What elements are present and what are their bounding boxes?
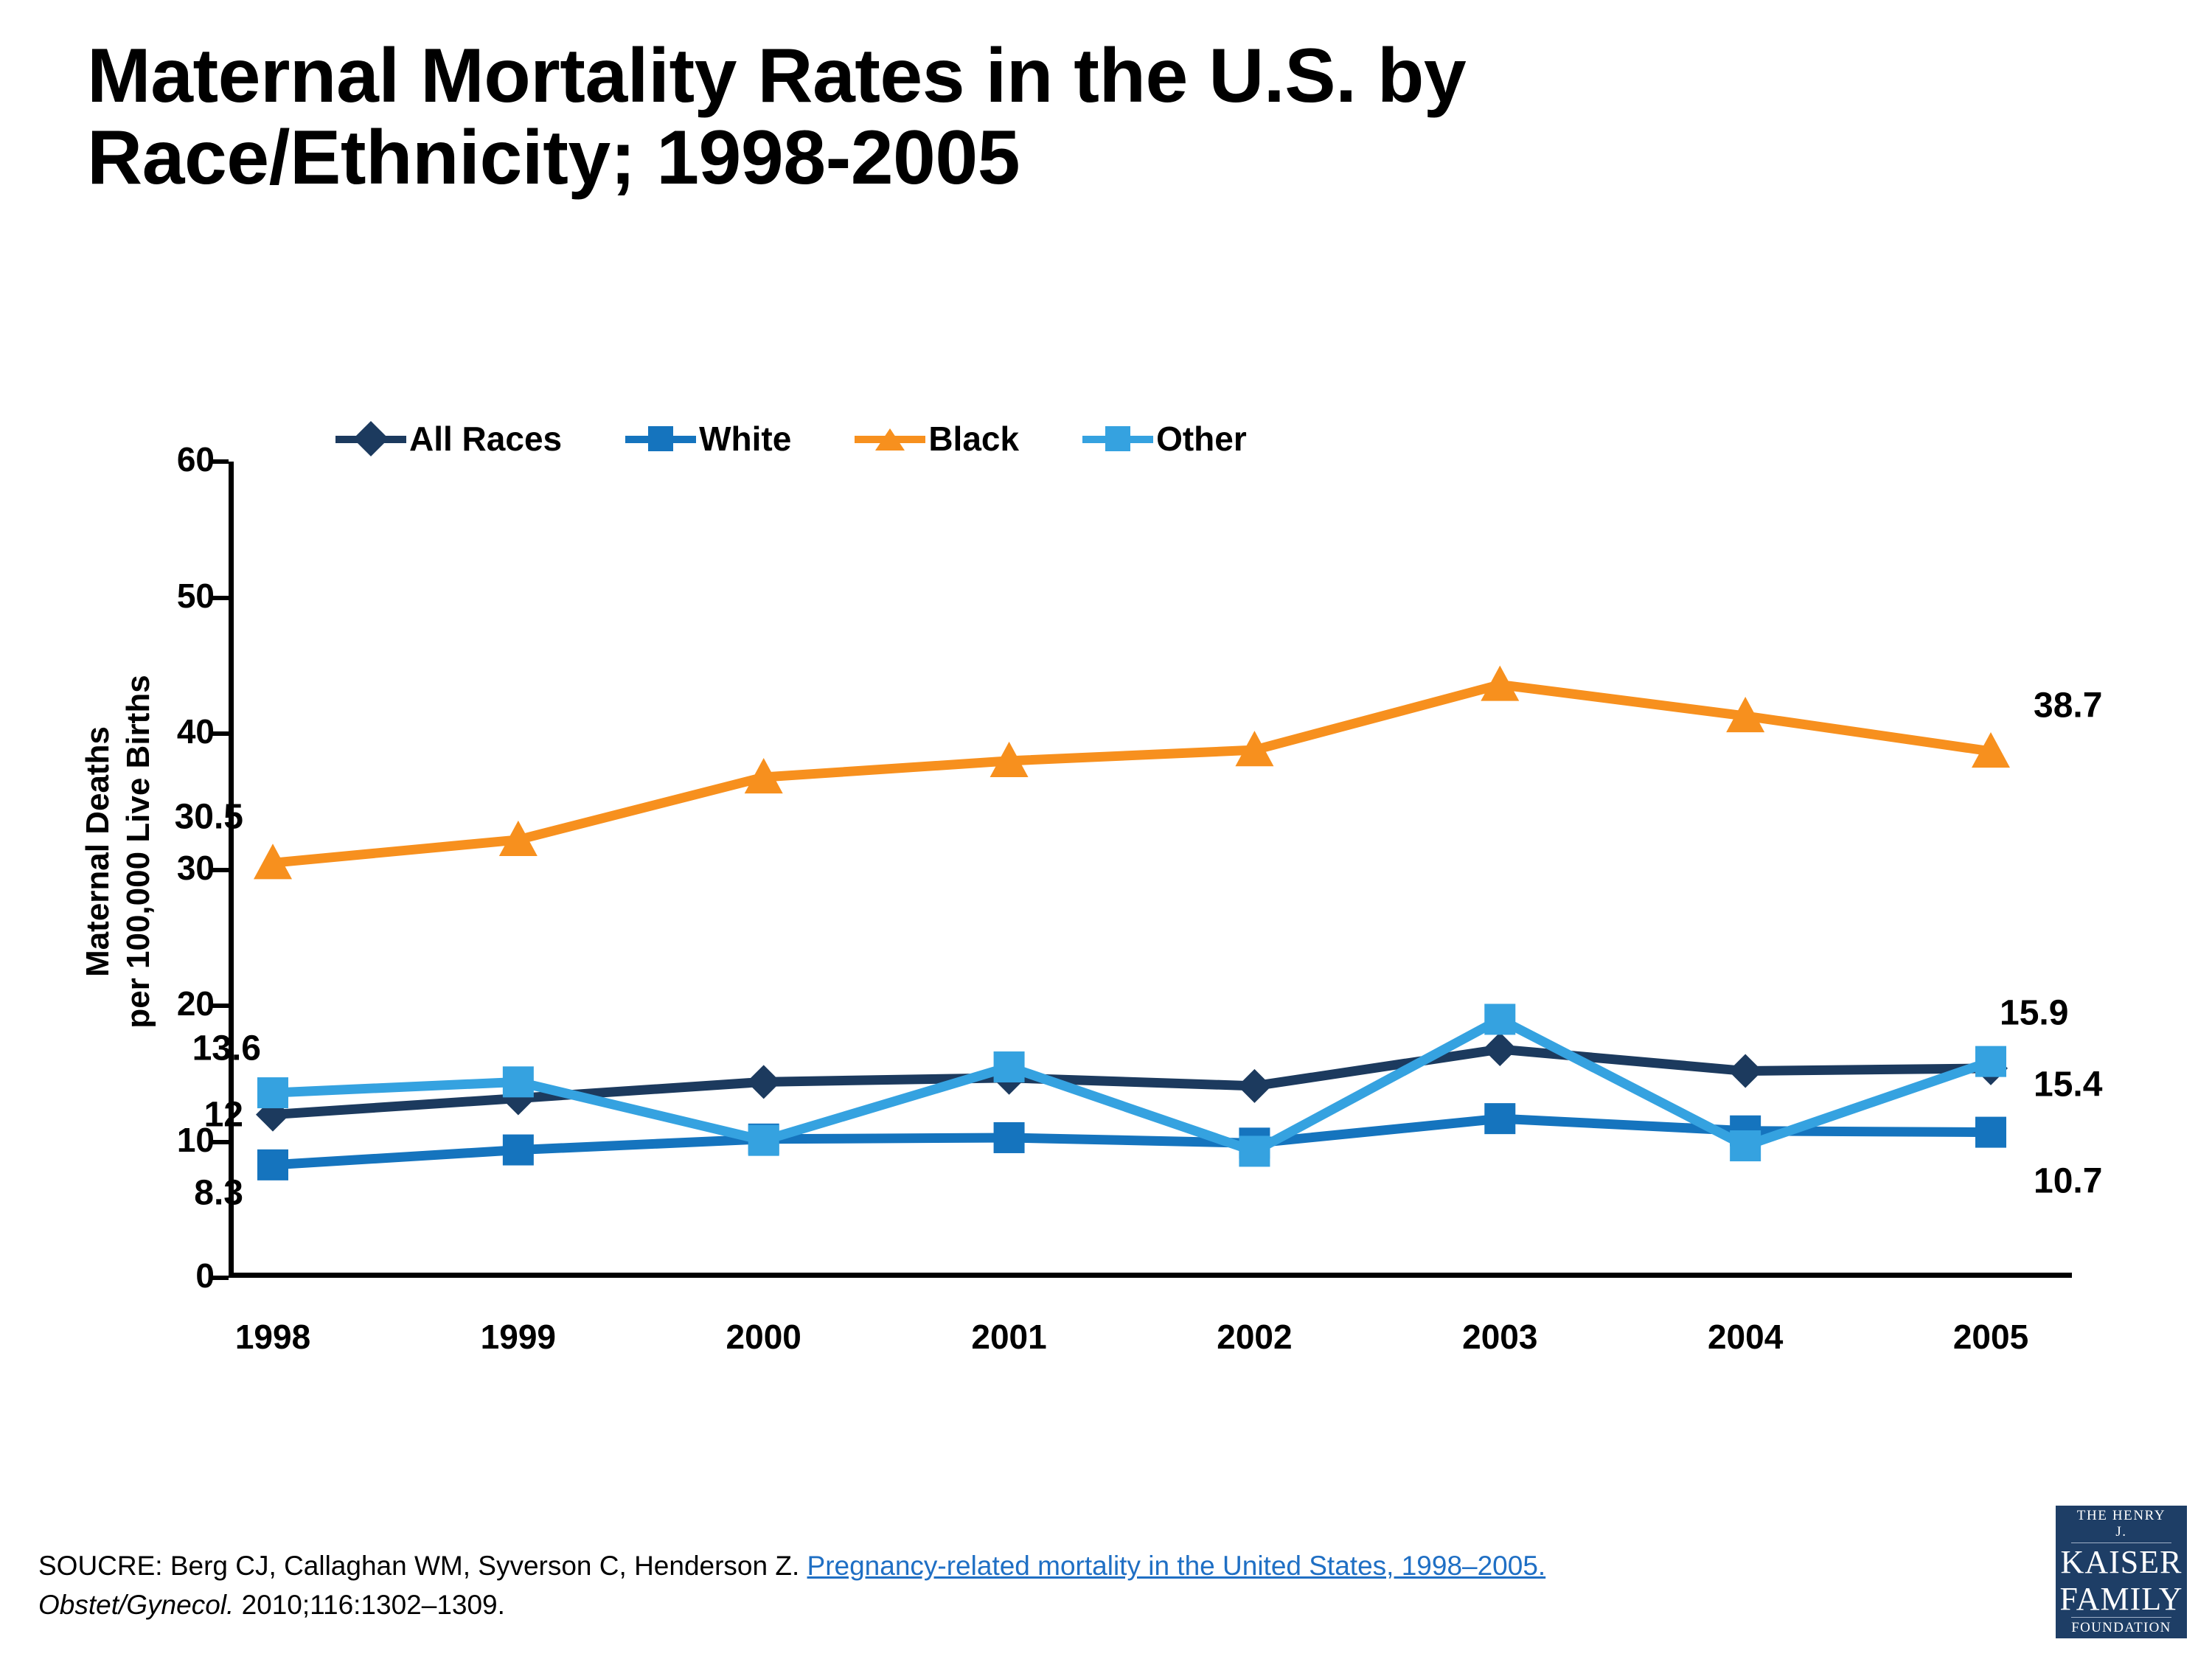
data-point-marker	[994, 1051, 1025, 1082]
legend-label-other: Other	[1156, 419, 1247, 459]
y-tick-label-50: 50	[82, 576, 215, 616]
data-point-marker	[1239, 1135, 1270, 1166]
line-chart: All Races White Black Other Maternal De	[0, 398, 2212, 1371]
legend-item-all-races[interactable]: All Races	[335, 419, 562, 459]
data-point-marker	[748, 1125, 779, 1156]
source-spacer	[1545, 1551, 1553, 1581]
data-point-marker	[503, 1066, 534, 1097]
chart-legend: All Races White Black Other	[335, 413, 1247, 465]
x-tick-label-1999: 1999	[430, 1317, 607, 1357]
legend-label-white: White	[699, 419, 791, 459]
source-prefix: SOUCRE: Berg CJ, Callaghan WM, Syverson …	[38, 1551, 807, 1581]
plot-region: 6050403020100 19981999200020012002200320…	[229, 462, 2072, 1278]
y-tick-label-20: 20	[82, 984, 215, 1023]
legend-item-black[interactable]: Black	[855, 419, 1019, 459]
y-tick-label-30: 30	[82, 848, 215, 888]
series-black	[254, 666, 2010, 880]
legend-marker-square-light-icon	[1082, 426, 1153, 451]
logo-line-foundation: FOUNDATION	[2071, 1617, 2171, 1636]
y-tick-label-40: 40	[82, 712, 215, 751]
x-tick-label-2004: 2004	[1657, 1317, 1834, 1357]
legend-item-white[interactable]: White	[625, 419, 791, 459]
data-point-marker	[1484, 1103, 1515, 1134]
legend-marker-diamond-icon	[335, 426, 406, 451]
x-tick-label-2000: 2000	[675, 1317, 852, 1357]
data-point-marker	[1237, 1069, 1271, 1103]
series-plot	[229, 462, 2072, 1278]
page-title: Maternal Mortality Rates in the U.S. by …	[87, 35, 1857, 200]
data-point-marker	[1975, 1117, 2006, 1148]
data-point-marker	[1484, 1004, 1515, 1034]
source-link[interactable]: Pregnancy-related mortality in the Unite…	[807, 1551, 1546, 1581]
x-tick-label-1998: 1998	[184, 1317, 361, 1357]
data-point-marker	[503, 1135, 534, 1166]
series-line	[273, 685, 1991, 863]
legend-marker-square-icon	[625, 426, 696, 451]
logo-line-kaiser: KAISER	[2061, 1543, 2183, 1580]
legend-marker-triangle-icon	[855, 426, 925, 451]
y-tick-label-0: 0	[82, 1256, 215, 1295]
source-journal: Obstet/Gynecol.	[38, 1590, 234, 1620]
data-point-marker	[994, 1122, 1025, 1153]
data-point-marker	[747, 1065, 781, 1099]
x-tick-label-2003: 2003	[1411, 1317, 1588, 1357]
logo-line-family: FAMILY	[2059, 1580, 2183, 1617]
data-point-marker	[257, 1150, 288, 1180]
source-note: SOUCRE: Berg CJ, Callaghan WM, Syverson …	[38, 1547, 1697, 1624]
data-point-marker	[1483, 1032, 1517, 1066]
legend-label-black: Black	[928, 419, 1019, 459]
y-tick-label-10: 10	[82, 1120, 215, 1160]
x-tick-label-2002: 2002	[1166, 1317, 1343, 1357]
legend-item-other[interactable]: Other	[1082, 419, 1247, 459]
data-point-marker	[257, 1077, 288, 1108]
x-tick-label-2005: 2005	[1902, 1317, 2079, 1357]
data-point-marker	[1728, 1054, 1762, 1088]
logo-line-the-henry-j: THE HENRY J.	[2071, 1508, 2171, 1543]
data-point-marker	[1730, 1130, 1761, 1161]
source-citation: 2010;116:1302–1309.	[234, 1590, 505, 1620]
y-tick-label-60: 60	[82, 439, 215, 479]
x-tick-label-2001: 2001	[921, 1317, 1098, 1357]
data-point-marker	[1975, 1046, 2006, 1077]
legend-label-all-races: All Races	[409, 419, 562, 459]
kaiser-family-foundation-logo: THE HENRY J. KAISER FAMILY FOUNDATION	[2056, 1506, 2187, 1638]
